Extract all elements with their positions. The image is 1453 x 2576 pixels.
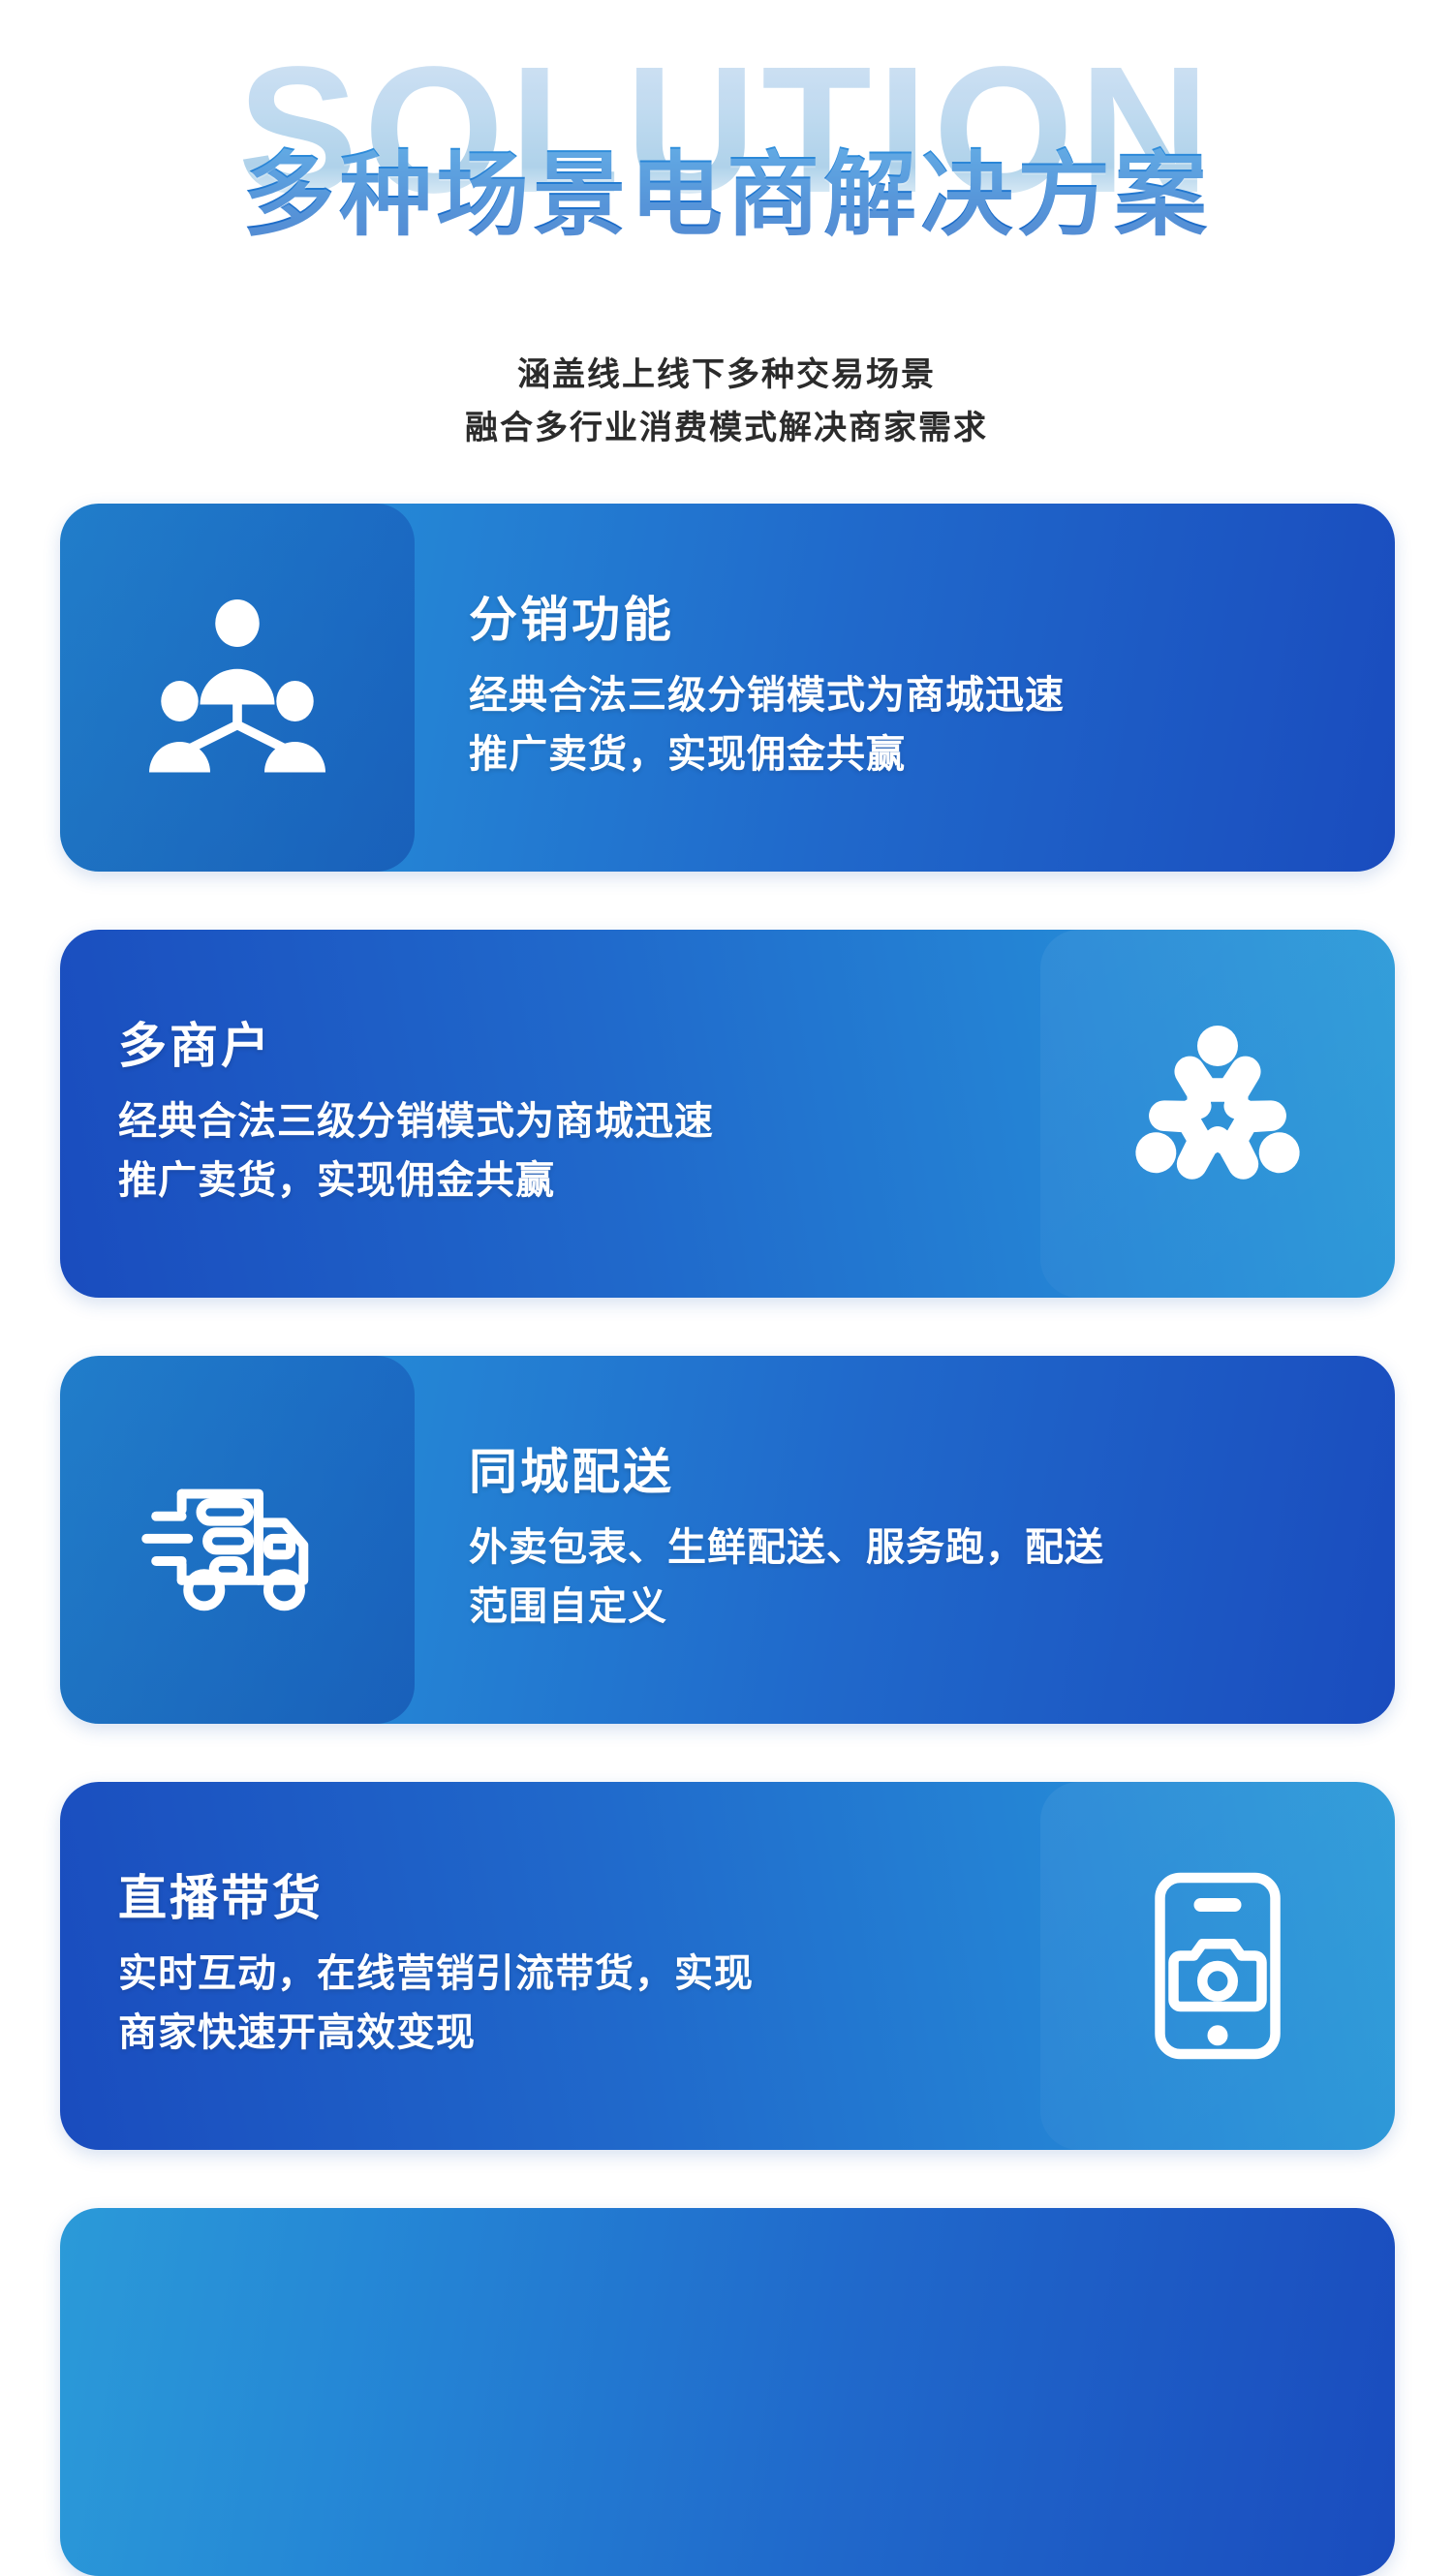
icon-panel	[1040, 930, 1395, 1298]
card-description-line-2: 推广卖货，实现佣金共赢	[118, 1151, 986, 1211]
live-stream-phone-icon	[1040, 1782, 1395, 2150]
card-description: 经典合法三级分销模式为商城迅速 推广卖货，实现佣金共赢	[469, 666, 1348, 784]
card-title: 直播带货	[118, 1869, 986, 1927]
icon-panel	[1040, 1782, 1395, 2150]
card-description: 外卖包表、生鲜配送、服务跑，配送 范围自定义	[469, 1518, 1348, 1637]
solution-card-distribution[interactable]: 分销功能 经典合法三级分销模式为商城迅速 推广卖货，实现佣金共赢	[60, 504, 1395, 872]
card-description-line-1: 经典合法三级分销模式为商城迅速	[469, 666, 1348, 725]
card-text-block: 多商户 经典合法三级分销模式为商城迅速 推广卖货，实现佣金共赢	[60, 1017, 1040, 1211]
card-title: 分销功能	[469, 591, 1348, 649]
card-title: 多商户	[118, 1017, 986, 1075]
card-text-block	[415, 2383, 1395, 2401]
page-header: SOLUTION 多种场景电商解决方案 涵盖线上线下多种交易场景 融合多行业消费…	[0, 0, 1453, 504]
page-subtitle: 涵盖线上线下多种交易场景 融合多行业消费模式解决商家需求	[0, 349, 1453, 455]
card-description: 经典合法三级分销模式为商城迅速 推广卖货，实现佣金共赢	[118, 1092, 986, 1211]
icon-panel	[60, 504, 415, 872]
card-text-block: 分销功能 经典合法三级分销模式为商城迅速 推广卖货，实现佣金共赢	[415, 591, 1395, 784]
delivery-truck-icon	[60, 1356, 415, 1724]
solution-card-list: 分销功能 经典合法三级分销模式为商城迅速 推广卖货，实现佣金共赢	[0, 504, 1453, 2576]
card-text-block: 直播带货 实时互动，在线营销引流带货，实现 商家快速开高效变现	[60, 1869, 1040, 2063]
card-description-line-1: 外卖包表、生鲜配送、服务跑，配送	[469, 1518, 1348, 1578]
page-title: 多种场景电商解决方案	[0, 145, 1453, 246]
card-description: 实时互动，在线营销引流带货，实现 商家快速开高效变现	[118, 1945, 986, 2063]
icon-panel	[60, 1356, 415, 1724]
card-description-line-2: 推广卖货，实现佣金共赢	[469, 725, 1348, 784]
card-description-line-1: 经典合法三级分销模式为商城迅速	[118, 1092, 986, 1151]
card-description-line-2: 商家快速开高效变现	[118, 2004, 986, 2063]
multi-merchant-icon	[1040, 930, 1395, 1298]
solution-card-next-partial[interactable]	[60, 2208, 1395, 2576]
distribution-network-icon	[60, 504, 415, 872]
solution-card-live-commerce[interactable]: 直播带货 实时互动，在线营销引流带货，实现 商家快速开高效变现	[60, 1782, 1395, 2150]
solution-card-city-delivery[interactable]: 同城配送 外卖包表、生鲜配送、服务跑，配送 范围自定义	[60, 1356, 1395, 1724]
icon-panel	[60, 2208, 415, 2576]
card-title: 同城配送	[469, 1443, 1348, 1501]
card-description-line-1: 实时互动，在线营销引流带货，实现	[118, 1945, 986, 2004]
card-description-line-2: 范围自定义	[469, 1578, 1348, 1637]
card-text-block: 同城配送 外卖包表、生鲜配送、服务跑，配送 范围自定义	[415, 1443, 1395, 1637]
subtitle-line-2: 融合多行业消费模式解决商家需求	[0, 402, 1453, 455]
solution-card-multi-merchant[interactable]: 多商户 经典合法三级分销模式为商城迅速 推广卖货，实现佣金共赢	[60, 930, 1395, 1298]
subtitle-line-1: 涵盖线上线下多种交易场景	[0, 349, 1453, 402]
